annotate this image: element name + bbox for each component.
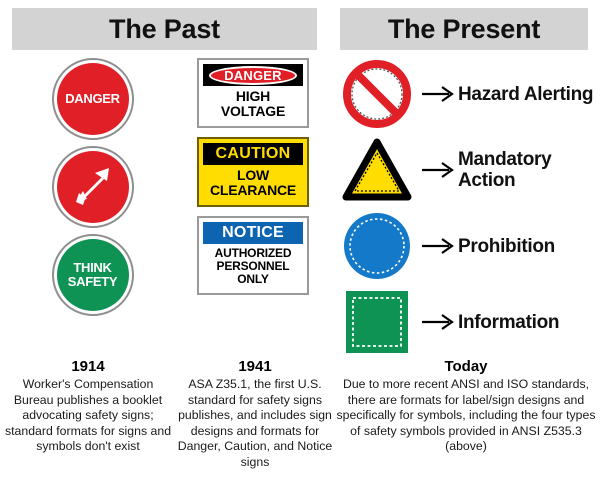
arrow-prohibition: [418, 237, 458, 255]
think-safety-line-1: THINK: [73, 261, 111, 275]
danger-banner: DANGER: [203, 64, 303, 86]
arrow-circle-disc: [57, 151, 129, 223]
prohibition-symbol: [336, 210, 418, 282]
column-1914-signs: DANGER THINK SAFETY: [10, 58, 175, 322]
arrow-circle-sign: [52, 146, 134, 228]
think-safety-circle-disc: THINK SAFETY: [57, 239, 129, 311]
right-arrow-icon: [421, 85, 455, 103]
caution-sign-body: LOW CLEARANCE: [203, 165, 303, 201]
danger-circle-sign: DANGER: [52, 58, 134, 140]
symbol-row-prohibition: Prohibition: [336, 210, 594, 282]
notice-authorized-personnel-sign: NOTICE AUTHORIZED PERSONNEL ONLY: [197, 216, 309, 295]
column-today-symbols: Hazard Alerting Mandatory Action: [336, 58, 594, 362]
information-label: Information: [458, 312, 559, 333]
caution-low-clearance-sign: CAUTION LOW CLEARANCE: [197, 137, 309, 207]
think-safety-line-2: SAFETY: [68, 275, 117, 289]
symbol-row-mandatory-action: Mandatory Action: [336, 134, 594, 206]
right-arrow-icon: [421, 161, 455, 179]
symbol-row-hazard-alerting: Hazard Alerting: [336, 58, 594, 130]
caption-1941: 1941 ASA Z35.1, the first U.S. standard …: [176, 358, 334, 470]
prohibition-circle-slash-icon: [341, 58, 413, 130]
filled-circle-icon: [342, 211, 412, 281]
notice-banner: NOTICE: [203, 222, 303, 244]
hazard-alerting-label: Hazard Alerting: [458, 84, 593, 105]
header-title-past: The Past: [109, 14, 220, 45]
danger-banner-label: DANGER: [209, 66, 297, 85]
notice-banner-label: NOTICE: [222, 224, 284, 242]
caution-banner-label: CAUTION: [216, 145, 291, 163]
caption-1941-text: ASA Z35.1, the first U.S. standard for s…: [176, 377, 334, 470]
danger-sign-body: HIGH VOLTAGE: [203, 86, 303, 122]
think-safety-circle-sign: THINK SAFETY: [52, 234, 134, 316]
diagonal-arrow-icon: [65, 159, 121, 215]
caption-today-year: Today: [334, 358, 598, 375]
right-arrow-icon: [421, 313, 455, 331]
filled-square-icon: [345, 290, 409, 354]
header-row: The Past The Present: [0, 8, 600, 50]
caption-1941-year: 1941: [176, 358, 334, 375]
hazard-alerting-symbol: [336, 58, 418, 130]
header-bar-present: The Present: [340, 8, 588, 50]
header-bar-past: The Past: [12, 8, 317, 50]
caption-1914: 1914 Worker's Compensation Bureau publis…: [2, 358, 174, 455]
symbol-row-information: Information: [336, 286, 594, 358]
arrow-information: [418, 313, 458, 331]
mandatory-action-label: Mandatory Action: [458, 149, 594, 191]
prohibition-label: Prohibition: [458, 236, 555, 257]
danger-circle-label: DANGER: [65, 92, 120, 106]
caution-body-line-2: CLEARANCE: [203, 183, 303, 198]
right-arrow-icon: [421, 237, 455, 255]
header-title-present: The Present: [388, 14, 540, 45]
information-symbol: [336, 286, 418, 358]
danger-high-voltage-sign: DANGER HIGH VOLTAGE: [197, 58, 309, 128]
danger-body-line-1: HIGH: [203, 89, 303, 104]
caption-today: Today Due to more recent ANSI and ISO st…: [334, 358, 598, 455]
arrow-hazard-alerting: [418, 85, 458, 103]
notice-body-line-3: ONLY: [203, 273, 303, 286]
column-1941-signs: DANGER HIGH VOLTAGE CAUTION LOW CLEARANC…: [178, 58, 328, 304]
notice-sign-body: AUTHORIZED PERSONNEL ONLY: [203, 244, 303, 289]
danger-body-line-2: VOLTAGE: [203, 104, 303, 119]
caption-today-text: Due to more recent ANSI and ISO standard…: [334, 377, 598, 455]
caution-body-line-1: LOW: [203, 168, 303, 183]
warning-triangle-icon: [341, 137, 413, 203]
arrow-mandatory-action: [418, 161, 458, 179]
caption-1914-year: 1914: [2, 358, 174, 375]
mandatory-action-symbol: [336, 134, 418, 206]
caption-1914-text: Worker's Compensation Bureau publishes a…: [2, 377, 174, 455]
caution-banner: CAUTION: [203, 143, 303, 165]
danger-circle-disc: DANGER: [57, 63, 129, 135]
